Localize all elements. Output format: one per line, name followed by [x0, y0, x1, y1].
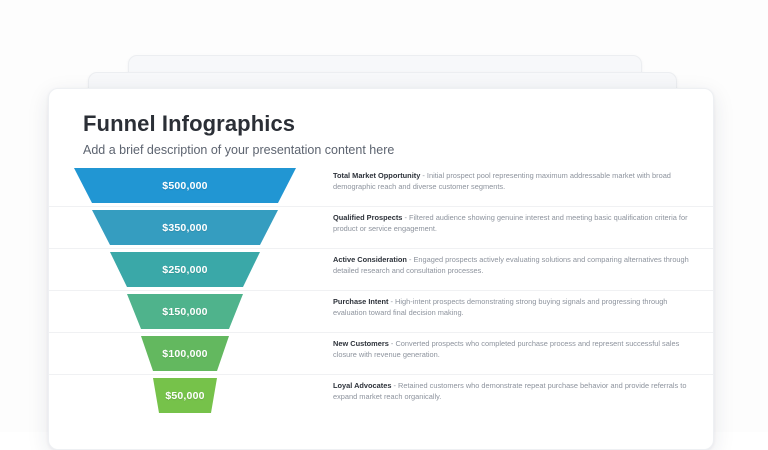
funnel-row: $150,000Purchase Intent - High-intent pr… [49, 291, 713, 333]
funnel-stage-heading: New Customers [333, 339, 389, 348]
funnel-description-cell: Loyal Advocates - Retained customers who… [321, 375, 713, 416]
funnel-description-cell: Purchase Intent - High-intent prospects … [321, 291, 713, 332]
funnel-stage-separator: - [407, 255, 414, 264]
funnel-segment-value: $250,000 [162, 264, 207, 276]
funnel-segment-cell: $150,000 [49, 291, 321, 332]
funnel-stage-heading: Purchase Intent [333, 297, 388, 306]
funnel-stage-heading: Loyal Advocates [333, 381, 391, 390]
funnel-segment-value: $150,000 [162, 306, 207, 318]
funnel-row: $350,000Qualified Prospects - Filtered a… [49, 207, 713, 249]
funnel-segment[interactable]: $150,000 [127, 294, 243, 329]
funnel-stage-heading: Active Consideration [333, 255, 407, 264]
slide-header: Funnel Infographics Add a brief descript… [49, 89, 713, 157]
funnel-stage-heading: Qualified Prospects [333, 213, 402, 222]
funnel-segment-cell: $350,000 [49, 207, 321, 248]
funnel-description: New Customers - Converted prospects who … [333, 338, 689, 361]
funnel-description-cell: Total Market Opportunity - Initial prosp… [321, 165, 713, 206]
funnel-description-cell: Qualified Prospects - Filtered audience … [321, 207, 713, 248]
slide-stage: Funnel Infographics Add a brief descript… [0, 0, 768, 432]
funnel-stage-separator: - [402, 213, 409, 222]
funnel-segment[interactable]: $250,000 [110, 252, 260, 287]
funnel-segment-cell: $250,000 [49, 249, 321, 290]
funnel-stage-separator: - [420, 171, 427, 180]
funnel-description-cell: Active Consideration - Engaged prospects… [321, 249, 713, 290]
funnel-description: Qualified Prospects - Filtered audience … [333, 212, 689, 235]
funnel-row: $250,000Active Consideration - Engaged p… [49, 249, 713, 291]
funnel-segment-value: $500,000 [162, 180, 207, 192]
funnel-row: $500,000Total Market Opportunity - Initi… [49, 165, 713, 207]
funnel-description: Active Consideration - Engaged prospects… [333, 254, 689, 277]
funnel-description-cell: New Customers - Converted prospects who … [321, 333, 713, 374]
funnel-description: Total Market Opportunity - Initial prosp… [333, 170, 689, 193]
page-title: Funnel Infographics [83, 111, 713, 136]
funnel-row: $50,000Loyal Advocates - Retained custom… [49, 375, 713, 416]
slide-card: Funnel Infographics Add a brief descript… [48, 88, 714, 450]
funnel-chart: $500,000Total Market Opportunity - Initi… [49, 165, 713, 416]
funnel-segment-value: $50,000 [165, 390, 204, 402]
funnel-segment[interactable]: $350,000 [92, 210, 278, 245]
funnel-segment[interactable]: $50,000 [153, 378, 217, 413]
page-subtitle: Add a brief description of your presenta… [83, 143, 713, 157]
funnel-segment-cell: $50,000 [49, 375, 321, 416]
funnel-row: $100,000New Customers - Converted prospe… [49, 333, 713, 375]
funnel-segment-value: $350,000 [162, 222, 207, 234]
funnel-segment-value: $100,000 [162, 348, 207, 360]
funnel-segment-cell: $500,000 [49, 165, 321, 206]
funnel-stage-heading: Total Market Opportunity [333, 171, 420, 180]
funnel-segment[interactable]: $500,000 [74, 168, 296, 203]
funnel-description: Purchase Intent - High-intent prospects … [333, 296, 689, 319]
funnel-description: Loyal Advocates - Retained customers who… [333, 380, 689, 403]
funnel-segment[interactable]: $100,000 [141, 336, 229, 371]
funnel-segment-cell: $100,000 [49, 333, 321, 374]
